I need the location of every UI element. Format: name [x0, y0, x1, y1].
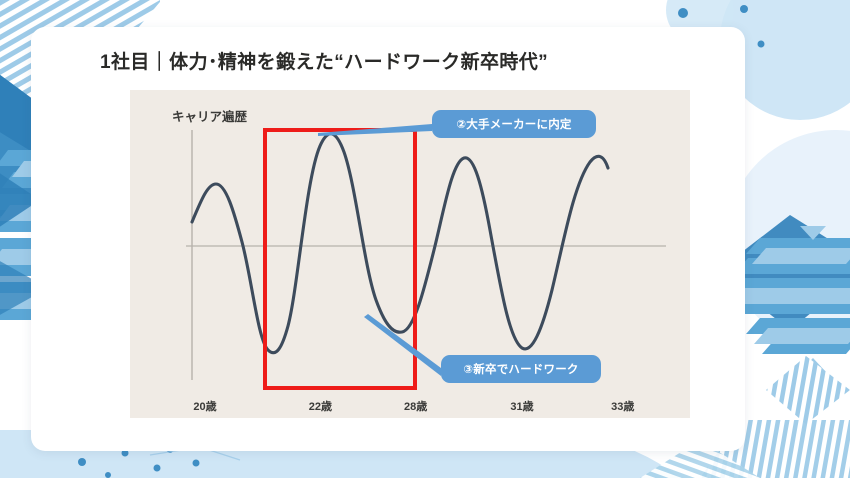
xtick-22: 22歳: [309, 398, 332, 414]
callout-offer-major-maker[interactable]: ②大手メーカーに内定: [432, 110, 596, 138]
callout-new-grad-hardwork[interactable]: ③新卒でハードワーク: [441, 355, 601, 383]
xtick-31: 31歳: [510, 398, 533, 414]
highlight-rectangle: [263, 128, 417, 390]
xtick-20: 20歳: [193, 398, 216, 414]
xtick-28: 28歳: [404, 398, 427, 414]
slide-canvas: 1社目｜体力･精神を鍛えた“ハードワーク新卒時代” キャリア遍歴 ②大手メーカー…: [0, 0, 850, 478]
chart-panel: キャリア遍歴: [130, 90, 690, 418]
page-title: 1社目｜体力･精神を鍛えた“ハードワーク新卒時代”: [100, 47, 548, 74]
chart-x-tick-labels: 20歳 22歳 28歳 31歳 33歳: [130, 398, 690, 418]
xtick-33: 33歳: [611, 398, 634, 414]
